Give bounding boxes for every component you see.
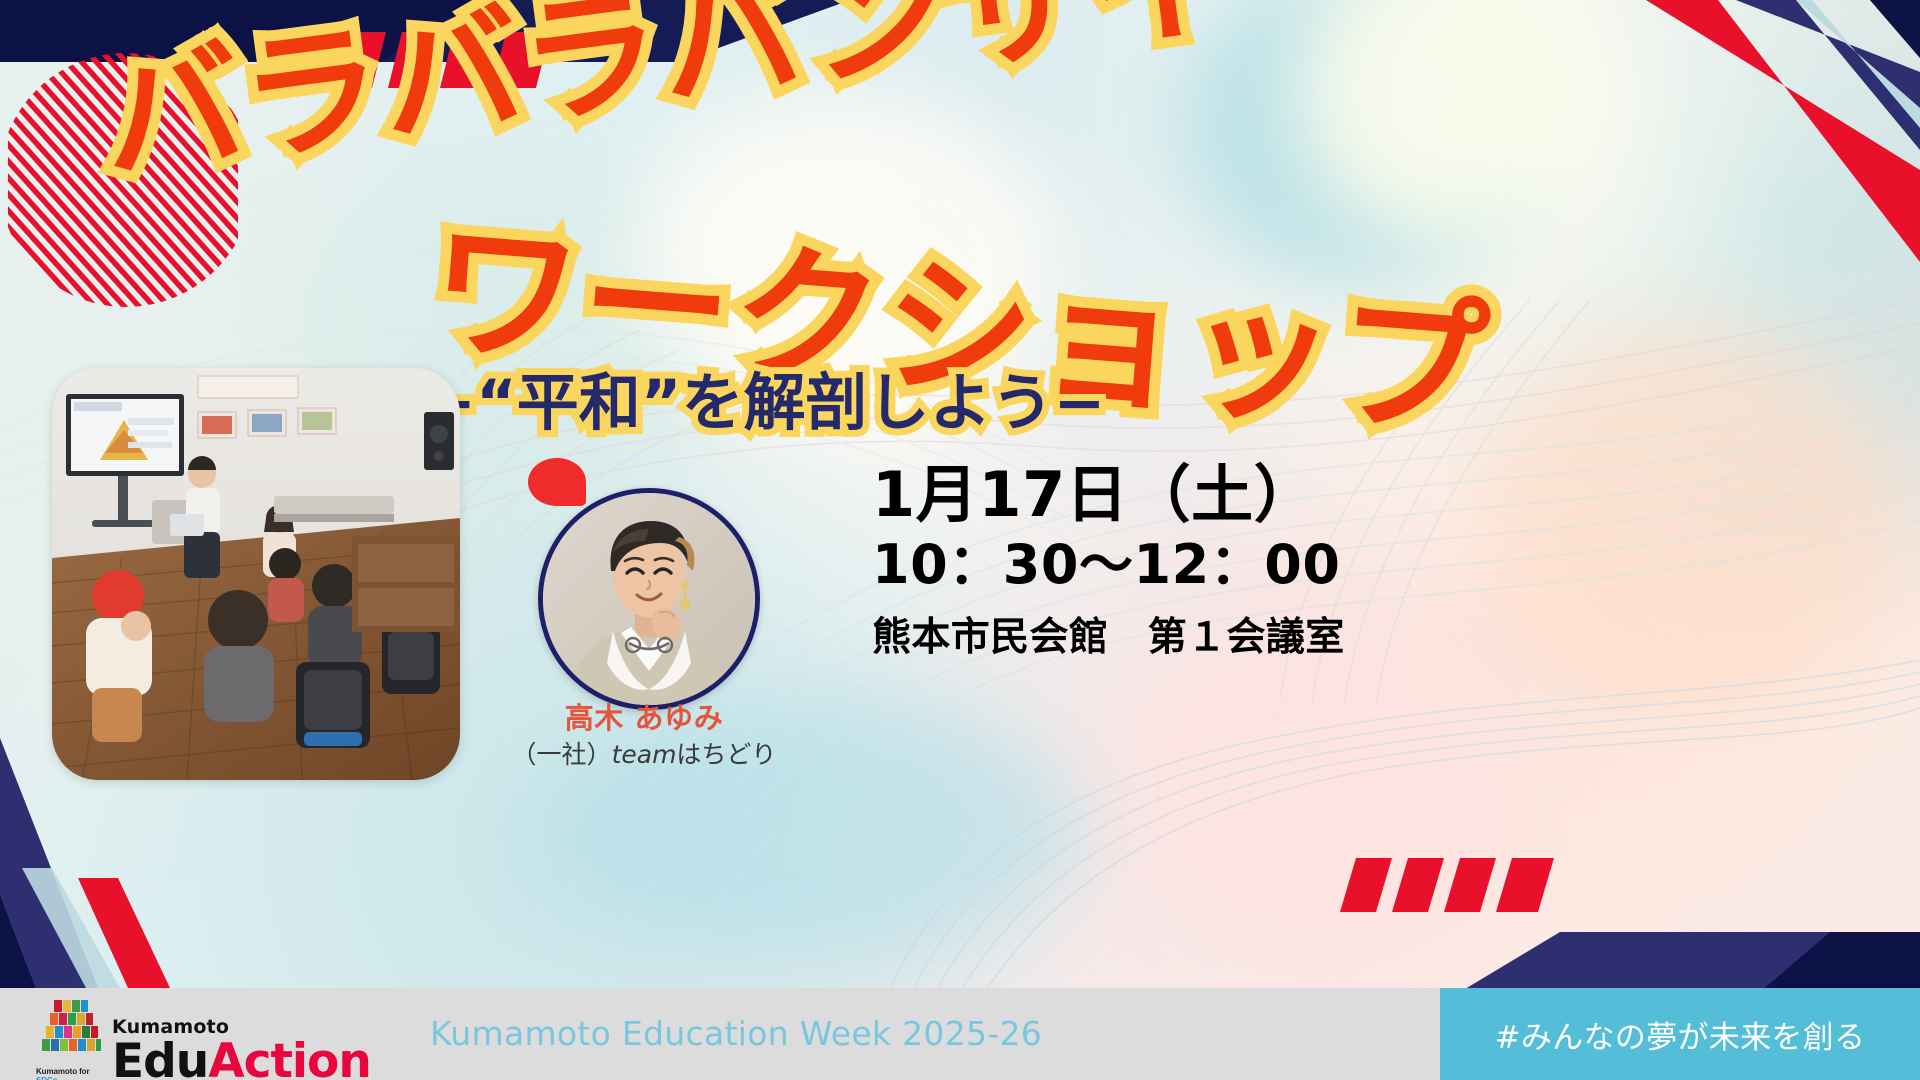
speaker-org-suffix: はちどり	[676, 740, 776, 769]
speech-bubble-dot	[528, 458, 586, 506]
event-time: 10：30〜12：00	[872, 533, 1392, 598]
event-date: 1月17日（土）	[872, 462, 1392, 529]
eduaction-logo: Kumamoto for SDGs Kumamoto EduAction	[36, 998, 371, 1080]
speaker-portrait-photo	[538, 488, 760, 710]
footer-bar: Kumamoto for SDGs Kumamoto EduAction Kum…	[0, 988, 1920, 1080]
title-block: バラバラバンザイ ワークショップ −“平和”を解剖しよう−	[0, 0, 1920, 420]
event-info: 1月17日（土） 10：30〜12：00 熊本市民会館 第１会議室	[872, 462, 1392, 663]
sdgs-caption: Kumamoto for SDGs	[36, 1067, 102, 1080]
hashtag-text: #みんなの夢が未来を創る	[1495, 1012, 1866, 1057]
eduaction-wordmark: Kumamoto EduAction	[112, 1018, 371, 1080]
logo-edu-text: Edu	[112, 1034, 208, 1080]
title-line-1: バラバラバンザイ	[88, 0, 1240, 210]
speaker-organization: （一社）teamはちどり	[488, 735, 800, 771]
subtitle: −“平和”を解剖しよう−	[424, 352, 1105, 442]
title-line-1-text: バラバラバンザイ	[88, 0, 1240, 210]
event-venue: 熊本市民会館 第１会議室	[872, 614, 1392, 663]
corner-decor-red-stripes-bottom	[1338, 850, 1638, 930]
sdgs-caption-prefix: Kumamoto for	[36, 1067, 89, 1076]
logo-eduaction-text: EduAction	[112, 1038, 371, 1080]
workshop-room-photo	[52, 368, 460, 780]
sdgs-caption-accent: SDGs	[36, 1076, 57, 1080]
education-week-label: Kumamoto Education Week 2025-26	[430, 1014, 1042, 1053]
speaker-org-team: team	[612, 740, 677, 769]
sdgs-pyramid-mark: Kumamoto for SDGs	[36, 998, 102, 1080]
hashtag-panel: #みんなの夢が未来を創る	[1440, 988, 1920, 1080]
corner-decor-bottom-right-navy	[1360, 932, 1920, 992]
logo-action-text: Action	[208, 1034, 371, 1080]
event-poster: バラバラバンザイ ワークショップ −“平和”を解剖しよう−	[0, 0, 1920, 1080]
speaker-name: 高木 あゆみ	[538, 695, 750, 737]
speaker-org-prefix: （一社）	[512, 740, 612, 769]
